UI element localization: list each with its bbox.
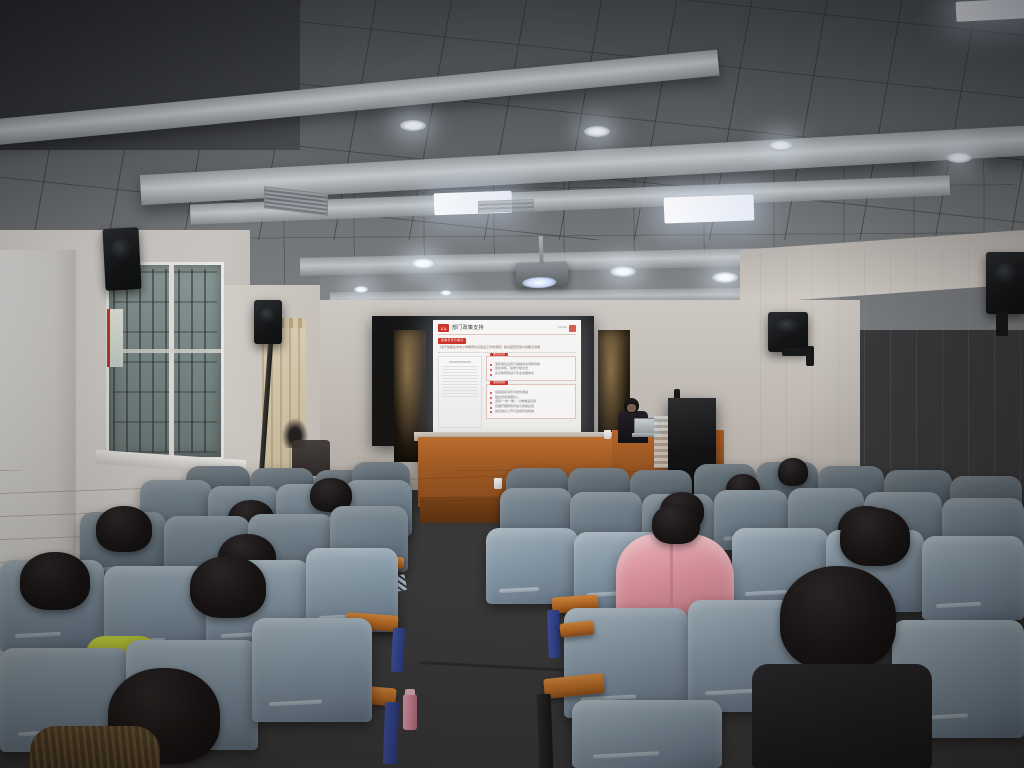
attendee-head	[652, 504, 700, 544]
slide-bullet: 完善教师培训与专业发展体系	[490, 372, 572, 376]
ceiling-projector	[516, 261, 569, 287]
doc-line	[442, 378, 478, 379]
slide-box-tag: 保障措施	[490, 381, 508, 385]
slide-section-body: 《关于加强全市中小学教师队伍建设工作的通知》相关配套实施方案要点说明	[438, 346, 576, 353]
slide-section-tag: 政策背景与重点	[438, 338, 466, 344]
seat-leg	[547, 610, 561, 658]
window-mullion	[169, 265, 174, 457]
downlight	[354, 286, 368, 293]
slide-bullet: 加强组织领导与统筹推进	[490, 391, 572, 395]
doc-line	[442, 369, 478, 370]
slide-logo-text: CHINA	[558, 326, 567, 330]
attendee-head	[190, 556, 266, 618]
slide-box: 保障措施 加强组织领导与统筹推进 强化经费保障投入 坚持"一校一策"，分类推进实…	[486, 384, 576, 419]
slide-number-badge: 1.1	[438, 324, 449, 332]
speaker-cone-icon	[776, 319, 800, 333]
downlight	[768, 140, 794, 151]
speaker-bracket	[996, 312, 1008, 336]
downlight	[712, 272, 738, 283]
doc-line	[442, 372, 478, 373]
speaker-cone-icon	[994, 263, 1018, 284]
wall-speaker	[986, 252, 1024, 314]
ceiling-panel-light	[956, 0, 1024, 22]
rack-front-panel	[654, 416, 668, 468]
presenter-face	[627, 404, 636, 412]
attendee-head	[780, 566, 896, 670]
slide-box-list: 落实岗位设置与编制动态调整机制 健全考核、绩效分配办法 完善教师培训与专业发展体…	[490, 363, 572, 376]
lecture-hall-photo: 1.1 部门政策支持 CHINA 政策背景与重点 《关于加强全市中小学教师队伍建…	[0, 0, 1024, 768]
slide-title: 部门政策支持	[452, 325, 484, 331]
attendee-head	[778, 458, 808, 486]
window-security-bars	[113, 269, 217, 453]
window-mullion	[109, 349, 221, 353]
attendee-head	[20, 552, 90, 610]
speaker-bracket	[806, 346, 814, 366]
slide-box: 重点任务 落实岗位设置与编制动态调整机制 健全考核、绩效分配办法 完善教师培训与…	[486, 356, 576, 381]
doc-line	[442, 366, 478, 367]
auditorium-seat	[252, 618, 372, 722]
wall-speaker	[102, 227, 141, 291]
attendee-fur-collar	[30, 726, 160, 768]
slide-logo: CHINA	[558, 325, 576, 332]
thermos-bottle	[403, 694, 417, 730]
auditorium-seat	[486, 528, 578, 604]
downlight	[440, 290, 452, 296]
speaker-cone-icon	[110, 239, 133, 261]
downlight	[610, 266, 636, 277]
doc-line	[442, 384, 478, 385]
doc-line	[442, 396, 478, 397]
doc-line	[449, 361, 471, 363]
slide-box-list: 加强组织领导与统筹推进 强化经费保障投入 坚持"一校一策"，分类推进实施 定期开…	[490, 391, 572, 414]
slide-columns: 重点任务 落实岗位设置与编制动态调整机制 健全考核、绩效分配办法 完善教师培训与…	[438, 356, 576, 428]
downlight	[946, 152, 972, 163]
doc-line	[442, 375, 478, 376]
downlight	[584, 126, 610, 137]
downlight	[410, 258, 436, 269]
doc-line	[442, 393, 478, 394]
paper-cup	[604, 430, 611, 439]
doc-line	[442, 387, 478, 388]
air-vent-icon	[478, 199, 534, 213]
attendee-dark-coat	[752, 664, 932, 768]
speaker-cone-icon	[260, 308, 277, 323]
slide-document-thumbnail	[438, 356, 482, 428]
doc-line	[442, 381, 478, 382]
slide-divider	[438, 334, 576, 335]
attendee-head	[840, 508, 910, 566]
doc-line	[442, 390, 478, 391]
downlight	[400, 120, 426, 131]
slide-bullet: 健全信息公开与监督问责机制	[490, 410, 572, 414]
wall-notice	[107, 309, 123, 367]
window	[106, 262, 224, 460]
seat-leg	[383, 702, 399, 764]
projected-slide: 1.1 部门政策支持 CHINA 政策背景与重点 《关于加强全市中小学教师队伍建…	[433, 320, 581, 436]
wall-speaker	[254, 300, 282, 344]
auditorium-seat	[922, 536, 1024, 620]
wall-speaker	[768, 312, 808, 352]
auditorium-seat	[572, 700, 722, 768]
seat-leg	[391, 628, 405, 673]
seat-leg	[537, 694, 554, 768]
slide-box-tag: 重点任务	[490, 353, 508, 357]
ceiling-panel-light	[664, 194, 755, 223]
attendee-head	[96, 506, 152, 552]
slide-logo-mark-icon	[569, 325, 576, 332]
slide-header: 1.1 部门政策支持 CHINA	[438, 324, 576, 332]
